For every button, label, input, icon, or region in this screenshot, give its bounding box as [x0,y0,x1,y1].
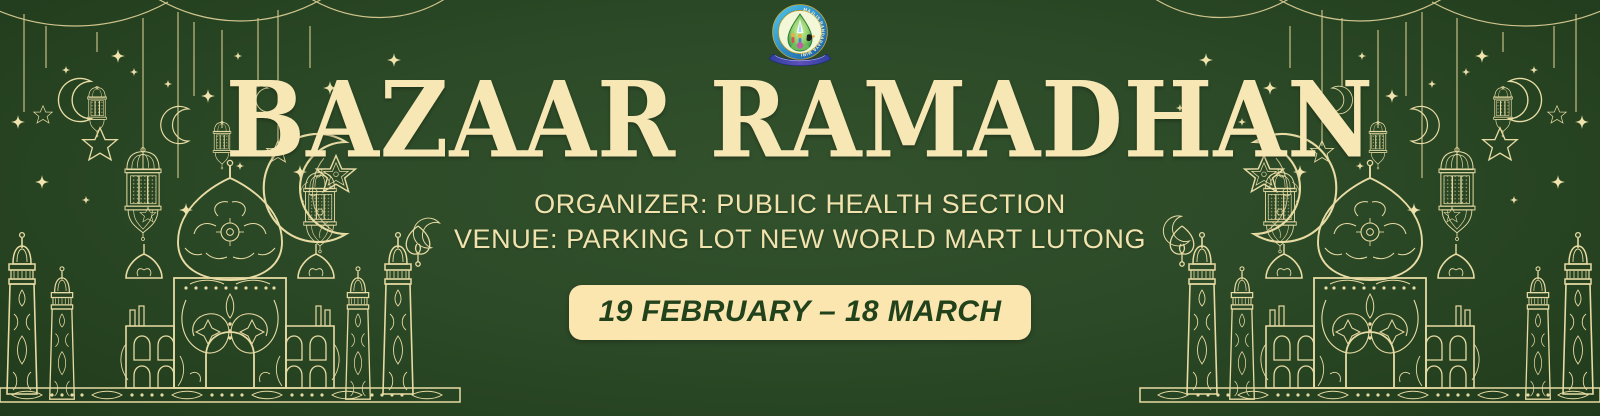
banner-content: BAZAAR RAMADHAN ORGANIZER: PUBLIC HEALTH… [0,0,1600,416]
venue-line: VENUE: PARKING LOT NEW WORLD MART LUTONG [454,222,1146,258]
event-details: ORGANIZER: PUBLIC HEALTH SECTION VENUE: … [454,187,1146,258]
organizer-line: ORGANIZER: PUBLIC HEALTH SECTION [454,187,1146,223]
page-title: BAZAAR RAMADHAN [226,72,1374,168]
date-range-badge: 19 FEBRUARY – 18 MARCH [569,285,1032,340]
ramadan-bazaar-banner: MAJLIS BANDARAYA MIRI BAZAAR RAMA [0,0,1600,416]
